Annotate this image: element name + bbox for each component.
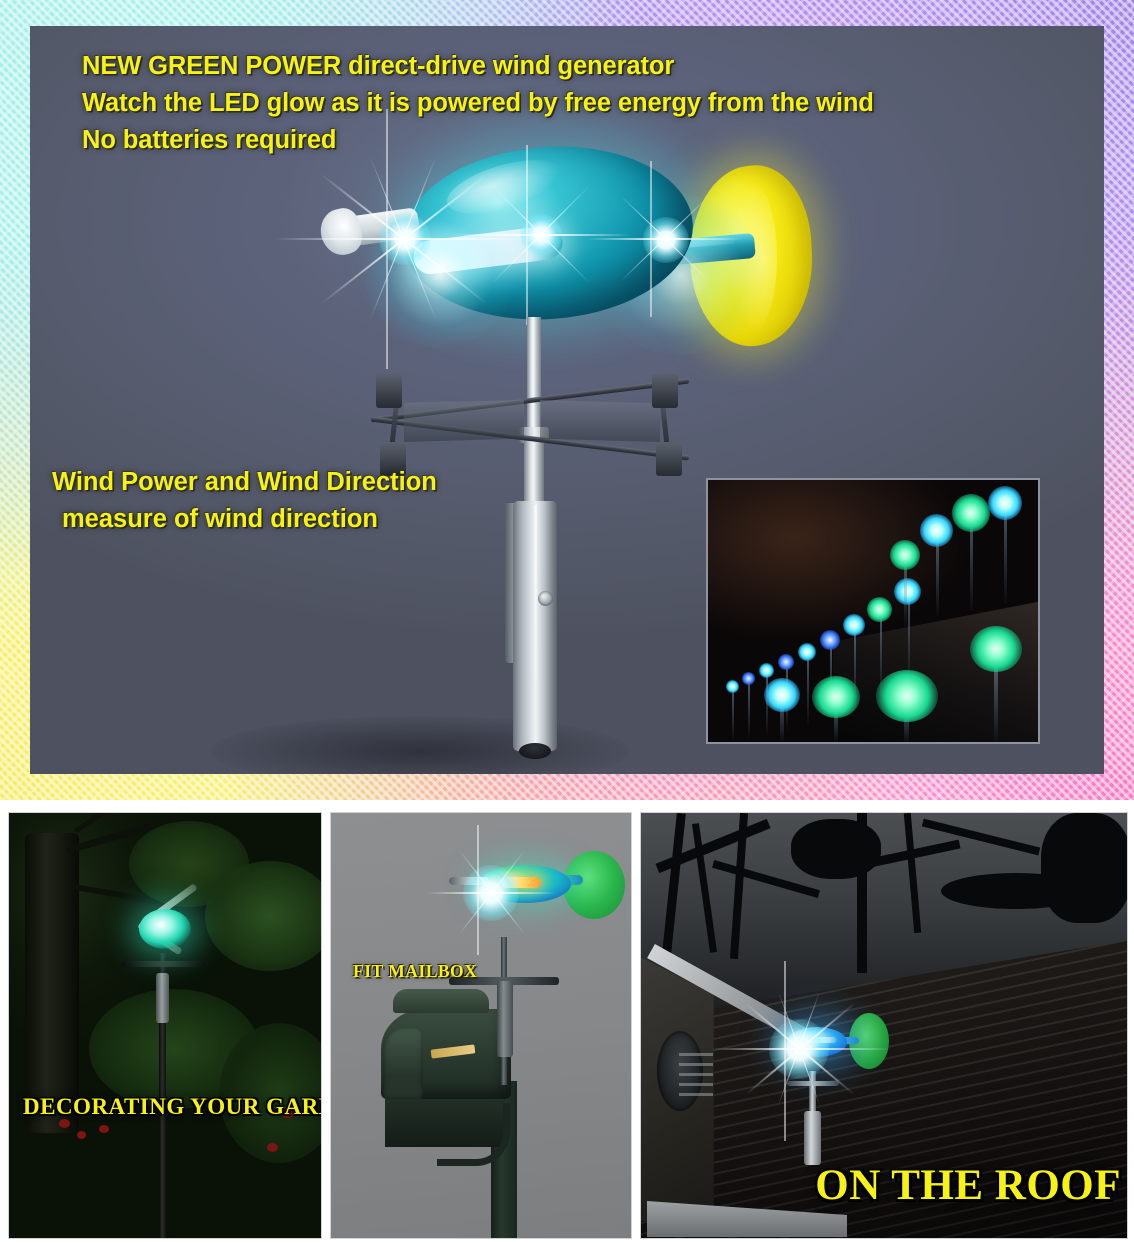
hero-headline: NEW GREEN POWER direct-drive wind genera… — [82, 48, 874, 159]
hero-headline-line-1: NEW GREEN POWER direct-drive wind genera… — [82, 48, 874, 85]
application-scenes-row: DECORATING YOUR GARDEN FIT MAILBOX — [0, 806, 1134, 1243]
mast-adjust-screw — [538, 591, 553, 606]
caption-roof: ON THE ROOF — [815, 1161, 1121, 1210]
roof-mast-sleeve — [804, 1111, 821, 1165]
hero-product-photo: NEW GREEN POWER direct-drive wind genera… — [30, 26, 1104, 774]
hero-subheading-line-2: measure of wind direction — [52, 501, 437, 538]
mast-base-cap — [519, 743, 551, 759]
mailbox-support-brace — [437, 1103, 510, 1166]
mailbox-mast-sleeve — [497, 981, 513, 1057]
direction-marker-north — [652, 374, 678, 408]
mailbox-led-core — [501, 877, 541, 888]
roof-direction-cross — [787, 1081, 839, 1086]
direction-marker-west — [376, 374, 402, 408]
roof-gable-vent — [657, 1031, 703, 1111]
scene-panel-garden: DECORATING YOUR GARDEN — [8, 812, 322, 1239]
direction-marker-east — [656, 442, 682, 476]
scene-panel-mailbox: FIT MAILBOX — [330, 812, 632, 1239]
roof-led-streak — [797, 1037, 837, 1043]
led-glow-front — [365, 199, 515, 349]
mailbox-door — [383, 1027, 423, 1099]
garden-tree-trunk — [25, 833, 79, 1133]
nose-spinner — [316, 205, 366, 259]
mast-seam-highlight — [534, 505, 537, 747]
hero-headline-line-3: No batteries required — [82, 122, 874, 159]
mailbox-nose-spinner — [449, 877, 489, 885]
hero-subheading-line-1: Wind Power and Wind Direction — [52, 464, 437, 501]
caption-garden: DECORATING YOUR GARDEN — [23, 1094, 322, 1120]
caption-mailbox: FIT MAILBOX — [353, 961, 477, 982]
hero-banner: NEW GREEN POWER direct-drive wind genera… — [0, 0, 1134, 800]
night-installation-inset-photo — [706, 478, 1040, 744]
mailbox-tail-vane — [563, 851, 625, 919]
hero-headline-line-2: Watch the LED glow as it is powered by f… — [82, 85, 874, 122]
garden-turbine-led — [139, 909, 191, 949]
garden-direction-cross — [121, 961, 205, 967]
hero-subheading: Wind Power and Wind Direction measure of… — [52, 464, 437, 538]
garden-mast-sleeve — [156, 973, 169, 1023]
scene-panel-roof: ON THE ROOF — [640, 812, 1128, 1239]
mailbox-name-plaque — [393, 989, 489, 1013]
